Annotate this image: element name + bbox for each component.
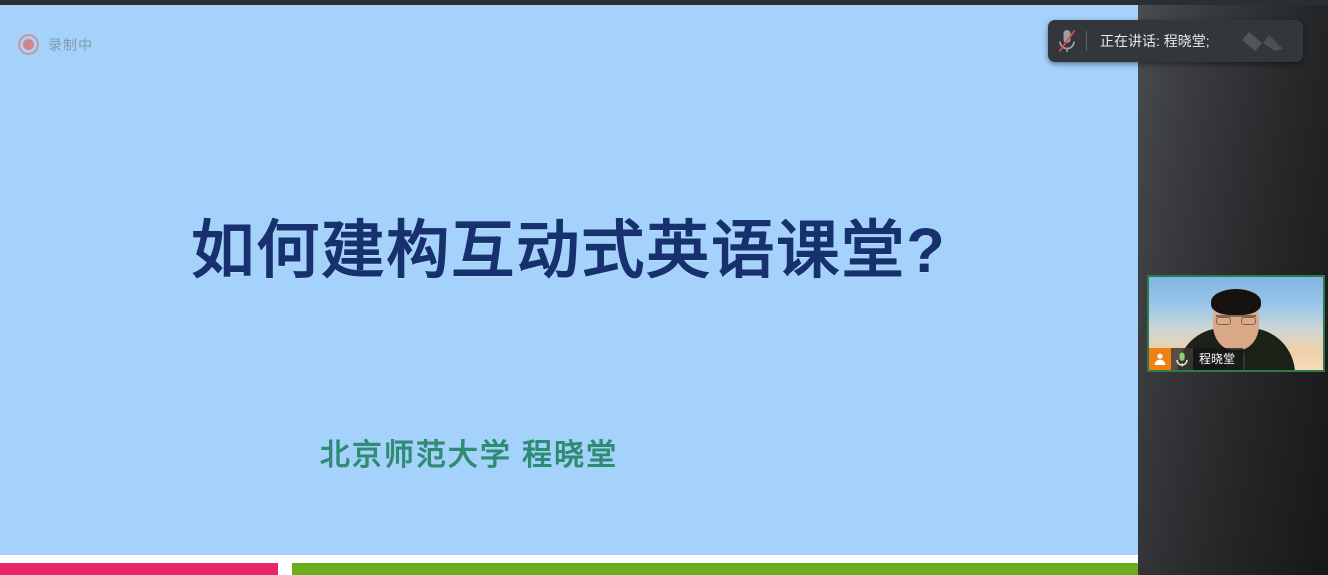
toast-divider [1086,31,1087,51]
video-name-strip: 程晓堂 [1149,348,1243,370]
record-dot-icon [18,34,39,55]
microphone-on-icon [1171,348,1193,370]
footer-bar-pink [0,563,278,575]
slide-footer-bars [0,563,1138,575]
shared-slide: 录制中 如何建构互动式英语课堂? 北京师范大学 程晓堂 [0,5,1138,575]
active-speaker-label: 正在讲话: 程晓堂; [1100,31,1210,51]
footer-bar-gap [278,563,292,575]
slide-subtitle: 北京师范大学 程晓堂 [0,430,1138,474]
wave-logo-icon [1233,29,1295,55]
participant-glasses [1216,315,1256,324]
participant-video-tile[interactable]: 程晓堂 [1147,275,1325,372]
person-icon [1149,348,1171,370]
slide-title: 如何建构互动式英语课堂? [0,217,1138,285]
recording-indicator: 录制中 [18,34,93,55]
recording-label: 录制中 [48,35,93,55]
screen-share-view: 录制中 如何建构互动式英语课堂? 北京师范大学 程晓堂 正在讲话: 程晓堂; [0,0,1328,575]
slide-footer-white-band [0,555,1138,563]
participant-hair [1211,289,1261,315]
microphone-muted-icon[interactable] [1048,20,1086,62]
active-speaker-toast[interactable]: 正在讲话: 程晓堂; [1048,20,1303,62]
footer-bar-green [292,563,1138,575]
participant-name-label: 程晓堂 [1193,348,1243,370]
